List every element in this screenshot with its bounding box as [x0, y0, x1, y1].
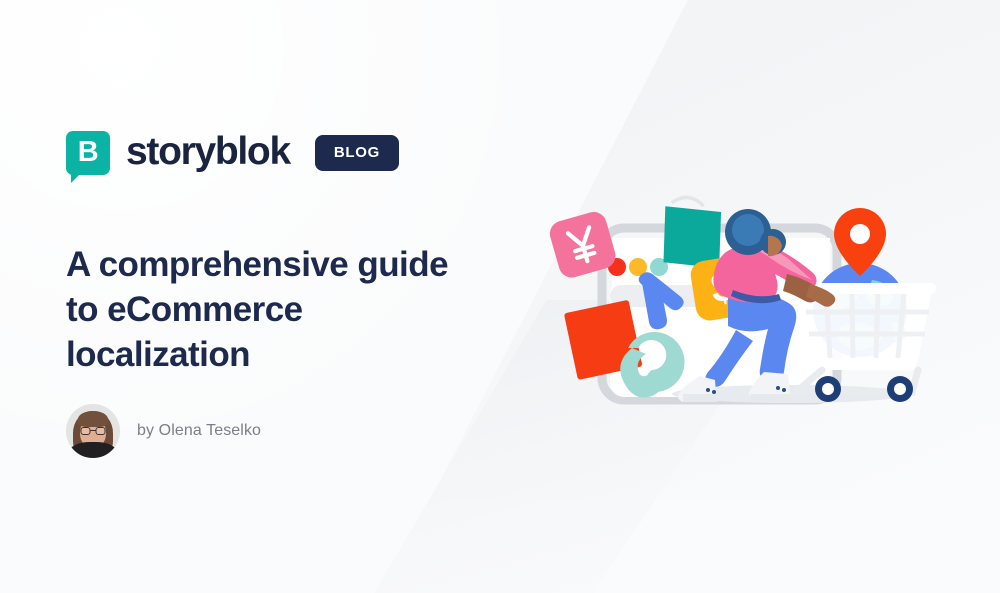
blog-badge[interactable]: BLOG	[315, 135, 399, 171]
storyblok-wordmark[interactable]: storyblok	[126, 132, 290, 174]
avatar-shoulders	[70, 442, 116, 458]
avatar	[66, 404, 120, 458]
avatar-hair-top	[78, 411, 108, 427]
hero-illustration: $	[540, 180, 940, 420]
byline: by Olena Teselko	[66, 404, 261, 458]
blog-hero-banner: B storyblok BLOG A comprehensive guide t…	[0, 0, 1000, 593]
brand-row: B storyblok BLOG	[66, 131, 399, 175]
hero-content: B storyblok BLOG A comprehensive guide t…	[66, 0, 536, 593]
logo-letter: B	[66, 131, 110, 175]
avatar-glasses-icon	[81, 427, 106, 435]
page-title: A comprehensive guide to eCommerce local…	[66, 243, 466, 377]
storyblok-logo-icon[interactable]: B	[66, 131, 110, 175]
author-byline: by Olena Teselko	[137, 422, 261, 440]
